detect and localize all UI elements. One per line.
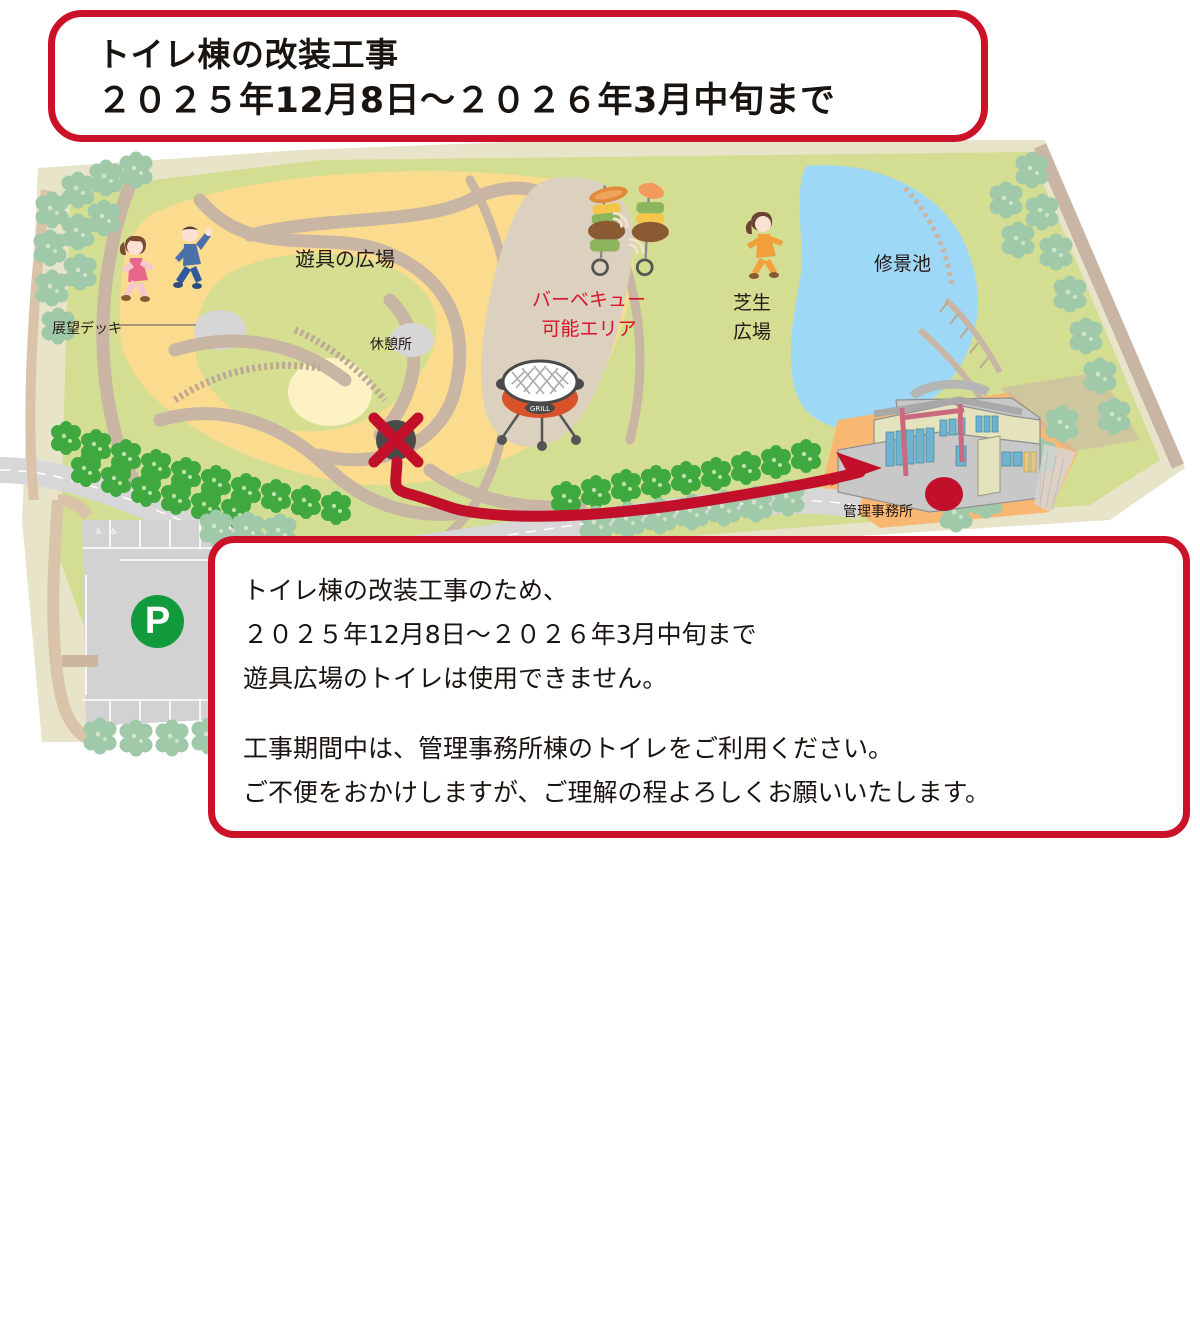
map-label-observation-deck: 展望デッキ xyxy=(52,318,122,338)
map-label-lawn-line2: 広場 xyxy=(733,318,771,347)
map-label-bbq-line1: バーベキュー xyxy=(532,286,646,315)
notice-line-2: ２０２５年12月8日〜２０２６年3月中旬まで xyxy=(243,613,1073,657)
construction-banner: トイレ棟の改装工事 ２０２５年12月8日〜２０２６年3月中旬まで xyxy=(48,10,988,142)
map-label-lawn: 芝生 広場 xyxy=(733,289,771,347)
parking-badge-icon: P xyxy=(131,595,184,648)
map-label-lawn-line1: 芝生 xyxy=(733,289,771,318)
banner-period: ２０２５年12月8日〜２０２６年3月中旬まで xyxy=(97,77,967,125)
map-label-playground: 遊具の広場 xyxy=(295,243,395,272)
svg-text:GRILL: GRILL xyxy=(530,405,550,413)
svg-text:♿: ♿ xyxy=(95,527,103,537)
poster-root: ♿♿ xyxy=(0,0,1200,849)
map-label-management-office: 管理事務所 xyxy=(843,501,913,521)
notice-line-5: ご不便をおかけしますが、ご理解の程よろしくお願いいたします。 xyxy=(243,771,1073,815)
notice-line-3: 遊具広場のトイレは使用できません。 xyxy=(243,657,1073,701)
notice-panel: トイレ棟の改装工事のため、 ２０２５年12月8日〜２０２６年3月中旬まで 遊具広… xyxy=(208,536,1190,838)
notice-line-1: トイレ棟の改装工事のため、 xyxy=(243,569,1073,613)
notice-line-4: 工事期間中は、管理事務所棟のトイレをご利用ください。 xyxy=(243,727,1073,771)
closed-toilet-marker xyxy=(374,418,418,462)
svg-text:♿: ♿ xyxy=(110,527,118,537)
map-label-pond: 修景池 xyxy=(874,249,931,276)
map-label-bbq-line2: 可能エリア xyxy=(532,315,646,344)
map-label-bbq-area: バーベキュー 可能エリア xyxy=(532,286,646,344)
notice-text-block: トイレ棟の改装工事のため、 ２０２５年12月8日〜２０２６年3月中旬まで 遊具広… xyxy=(243,569,1073,815)
map-label-rest-area: 休憩所 xyxy=(370,334,412,354)
banner-title: トイレ棟の改装工事 xyxy=(97,33,967,77)
notice-spacer xyxy=(243,701,1073,727)
